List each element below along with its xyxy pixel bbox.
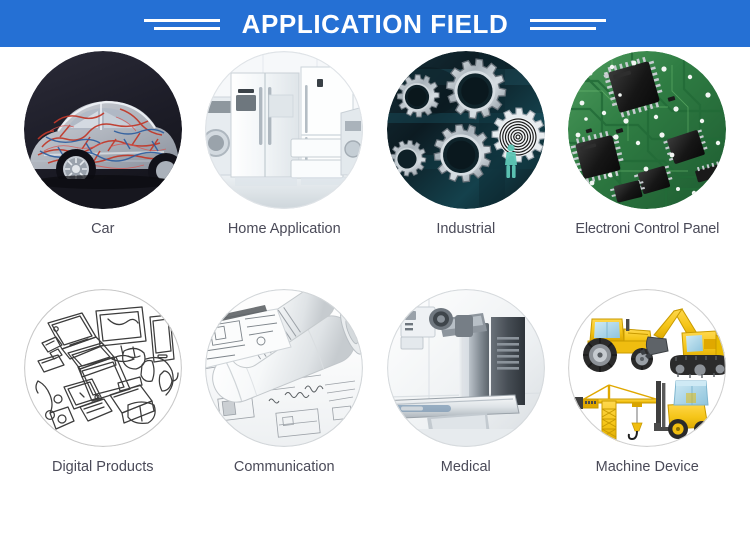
application-field-grid: Car [0, 47, 750, 543]
grid-item-label: Communication [234, 459, 335, 476]
application-field-page: APPLICATION FIELD [0, 0, 750, 543]
grid-item-label: Industrial [436, 221, 495, 238]
grid-item-car[interactable]: Car [12, 51, 194, 289]
home-application-image [205, 51, 363, 209]
machine-device-image [568, 289, 726, 447]
digital-products-image [24, 289, 182, 447]
grid-item-label: Home Application [228, 221, 341, 238]
grid-item-electroni-control-panel[interactable]: Electroni Control Panel [557, 51, 739, 289]
medical-image [387, 289, 545, 447]
grid-item-industrial[interactable]: Industrial [375, 51, 557, 289]
page-title: APPLICATION FIELD [242, 11, 509, 37]
electroni-control-panel-image [568, 51, 726, 209]
grid-item-machine-device[interactable]: Machine Device [557, 289, 739, 527]
banner-decoration-right-icon [530, 18, 606, 30]
industrial-image [387, 51, 545, 209]
grid-item-label: Digital Products [52, 459, 154, 476]
grid-item-communication[interactable]: Communication [194, 289, 376, 527]
car-image [24, 51, 182, 209]
grid-item-digital-products[interactable]: Digital Products [12, 289, 194, 527]
communication-image [205, 289, 363, 447]
grid-item-label: Electroni Control Panel [575, 221, 719, 238]
banner-decoration-left-icon [144, 18, 220, 30]
grid-item-medical[interactable]: Medical [375, 289, 557, 527]
section-banner: APPLICATION FIELD [0, 0, 750, 47]
grid-item-label: Machine Device [596, 459, 699, 476]
grid-item-home-application[interactable]: Home Application [194, 51, 376, 289]
grid-item-label: Medical [441, 459, 491, 476]
grid-item-label: Car [91, 221, 114, 238]
